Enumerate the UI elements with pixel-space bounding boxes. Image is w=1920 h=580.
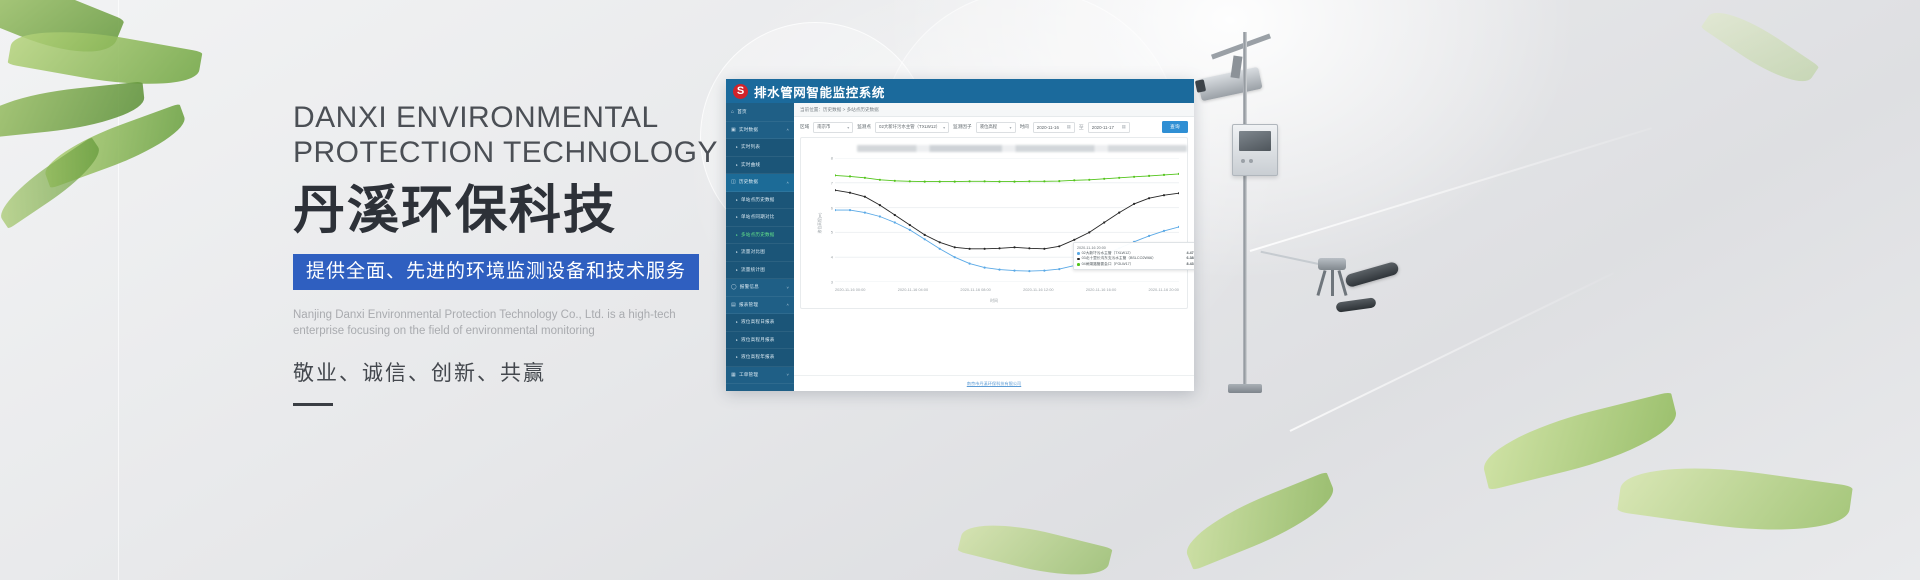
data-point: [1073, 179, 1075, 181]
sidebar-item-15[interactable]: ▦工单管理˅: [726, 367, 794, 385]
app-title: 排水管网智能监控系统: [754, 82, 885, 101]
app-screenshot: S 排水管网智能监控系统 ⌂首页▣实时数据˄▸实时列表▸实时曲线◫历史数据˄▸单…: [726, 79, 1194, 391]
divider: [293, 403, 333, 406]
bell-icon: ◯: [731, 284, 737, 290]
data-point: [984, 180, 986, 182]
sensor-tripod: [1318, 266, 1346, 296]
select-factor[interactable]: 液位高程▾: [976, 122, 1016, 133]
english-heading-line2: PROTECTION TECHNOLOGY: [293, 135, 713, 170]
data-point: [1103, 221, 1105, 223]
data-point: [1043, 270, 1045, 272]
data-point: [924, 238, 926, 240]
data-point: [1058, 245, 1060, 247]
data-point: [894, 214, 896, 216]
sidebar-item-5[interactable]: ▸单站点历史数据: [726, 192, 794, 210]
sidebar-item-7[interactable]: ▸多站点历史数据: [726, 227, 794, 245]
sidebar-item-label: 液位高程日报表: [741, 319, 775, 325]
data-point: [954, 256, 956, 258]
data-point: [984, 248, 986, 250]
data-point: [849, 209, 851, 211]
data-point: [1013, 181, 1015, 183]
chevron-right-icon: ▸: [736, 355, 738, 359]
x-axis-ticks: 2020-11-16 00:002020-11-16 04:002020-11-…: [835, 287, 1179, 295]
data-point: [1178, 226, 1179, 228]
calendar-icon[interactable]: ▦: [1122, 124, 1126, 130]
data-point: [1163, 194, 1165, 196]
sidebar-item-label: 单站点历史数据: [741, 197, 775, 203]
chevron-down-icon[interactable]: ▾: [1010, 125, 1012, 130]
data-point: [969, 263, 971, 265]
monitoring-pole: [1243, 32, 1247, 388]
chart-tooltip: 2020-11-16 20:00 02大新圩污水主管（TXLW12）4.47m0…: [1073, 242, 1194, 270]
filter-value: 液位高程: [980, 124, 998, 130]
main-content: 当前位置：历史数据 > 多站点历史数据 区域南京市▾监测点02大新圩污水主管（T…: [794, 103, 1194, 391]
y-tick-label: 4: [831, 255, 833, 260]
sidebar-item-9[interactable]: ▸流量统计图: [726, 262, 794, 280]
legend-dot-icon: [1077, 252, 1080, 255]
chevron-down-icon: ˅: [786, 285, 789, 290]
data-point: [1058, 268, 1060, 270]
chevron-down-icon[interactable]: ▾: [847, 125, 849, 130]
data-point: [1088, 231, 1090, 233]
filter-label-region: 区域: [800, 124, 809, 130]
data-point: [984, 267, 986, 269]
sidebar-item-11[interactable]: ▤报表管理˄: [726, 297, 794, 315]
data-point: [849, 175, 851, 177]
english-heading-line1: DANXI ENVIRONMENTAL: [293, 100, 713, 135]
data-point: [1163, 174, 1165, 176]
y-tick-label: 7: [831, 180, 833, 185]
filter-label-station: 监测点: [857, 124, 871, 130]
sidebar-item-label: 单站点同期对比: [741, 214, 775, 220]
data-point: [1043, 248, 1045, 250]
filter-label-time_start: 时间: [1020, 124, 1029, 130]
data-point: [1088, 179, 1090, 181]
data-point: [879, 204, 881, 206]
shield-logo-icon: S: [733, 84, 748, 99]
x-tick-label: 2020-11-16 04:00: [898, 287, 928, 295]
monitor-icon: ▣: [731, 127, 736, 133]
data-point: [1073, 239, 1075, 241]
data-point: [864, 177, 866, 179]
cabinet-indicator-icon: [1241, 159, 1245, 163]
app-footer: 南京市丹溪环保科技有限公司: [794, 375, 1194, 391]
filter-value: 2020-11-17: [1092, 125, 1114, 130]
x-tick-label: 2020-11-16 12:00: [1023, 287, 1053, 295]
data-point: [1133, 176, 1135, 178]
data-point: [1043, 180, 1045, 182]
tooltip-series-value: 8.43m: [1187, 262, 1194, 267]
sidebar-item-label: 报警信息: [740, 284, 759, 290]
data-point: [909, 224, 911, 226]
page-title: 丹溪环保科技: [293, 182, 713, 240]
data-point: [969, 248, 971, 250]
filter-value: 南京市: [817, 124, 830, 130]
chevron-right-icon: ▸: [736, 320, 738, 324]
chevron-down-icon: ˅: [786, 372, 789, 377]
data-point: [1118, 212, 1120, 214]
select-station[interactable]: 02大新圩污水主管（TXLW12）▾: [875, 122, 949, 133]
data-point: [939, 248, 941, 250]
tooltip-series-label: 04闸湖路管委会口（FGLW17）: [1082, 262, 1134, 267]
sidebar-item-6[interactable]: ▸单站点同期对比: [726, 209, 794, 227]
data-point: [998, 269, 1000, 271]
x-axis-title: 时间: [801, 298, 1187, 304]
data-point: [939, 241, 941, 243]
pole-base: [1228, 384, 1262, 393]
data-point: [894, 180, 896, 182]
company-description: Nanjing Danxi Environmental Protection T…: [293, 307, 683, 339]
sidebar[interactable]: ⌂首页▣实时数据˄▸实时列表▸实时曲线◫历史数据˄▸单站点历史数据▸单站点同期对…: [726, 103, 794, 391]
legend-dot-icon: [1077, 263, 1080, 266]
sidebar-item-label: 工单管理: [739, 372, 758, 378]
chart-legend: [857, 145, 1187, 152]
logo-letter: S: [737, 86, 744, 97]
filter-bar[interactable]: 区域南京市▾监测点02大新圩污水主管（TXLW12）▾监测因子液位高程▾时间20…: [794, 117, 1194, 137]
sidebar-item-label: 实时曲线: [741, 162, 760, 168]
breadcrumb: 当前位置：历史数据 > 多站点历史数据: [794, 103, 1194, 117]
chevron-down-icon[interactable]: ▾: [943, 125, 945, 130]
data-point: [1148, 235, 1150, 237]
data-point: [954, 246, 956, 248]
sidebar-item-label: 实时列表: [741, 144, 760, 150]
data-point: [894, 221, 896, 223]
data-point: [909, 229, 911, 231]
select-region[interactable]: 南京市▾: [813, 122, 853, 133]
data-point: [998, 247, 1000, 249]
y-tick-label: 5: [831, 230, 833, 235]
cabinet-screen: [1239, 131, 1271, 151]
data-point: [864, 212, 866, 214]
sidebar-item-3[interactable]: ▸实时曲线: [726, 157, 794, 175]
sidebar-item-2[interactable]: ▸实时列表: [726, 139, 794, 157]
date-range-separator: 至: [1079, 124, 1084, 131]
cabinet-indicator-icon: [1249, 159, 1253, 163]
sidebar-item-label: 报表管理: [739, 302, 758, 308]
data-point: [924, 181, 926, 183]
report-icon: ▤: [731, 302, 736, 308]
data-point: [849, 192, 851, 194]
sidebar-item-label: 首页: [737, 109, 747, 115]
sidebar-item-14[interactable]: ▸液位高程年报表: [726, 349, 794, 367]
home-icon: ⌂: [731, 109, 734, 115]
data-point: [954, 181, 956, 183]
x-tick-label: 2020-11-16 20:00: [1149, 287, 1179, 295]
hero-copy: DANXI ENVIRONMENTAL PROTECTION TECHNOLOG…: [293, 100, 713, 406]
query-button[interactable]: 查询: [1162, 121, 1188, 133]
data-point: [1103, 178, 1105, 180]
app-titlebar: S 排水管网智能监控系统: [726, 79, 1194, 103]
data-point: [1028, 247, 1030, 249]
ticket-icon: ▦: [731, 372, 736, 378]
company-footer-link[interactable]: 南京市丹溪环保科技有限公司: [967, 381, 1021, 387]
data-point: [835, 189, 836, 191]
chevron-up-icon: ˄: [786, 302, 789, 307]
data-point: [835, 174, 836, 176]
data-point: [969, 180, 971, 182]
y-tick-label: 3: [831, 280, 833, 285]
chevron-right-icon: ▸: [736, 163, 738, 167]
sidebar-item-label: 液位高程年报表: [741, 354, 775, 360]
filter-value: 2020-11-16: [1037, 125, 1059, 130]
chart-icon: ◫: [731, 179, 736, 185]
chevron-right-icon: ▸: [736, 215, 738, 219]
chevron-up-icon: ˄: [786, 127, 789, 132]
data-point: [1148, 175, 1150, 177]
chevron-up-icon: ˄: [786, 180, 789, 185]
sidebar-item-4[interactable]: ◫历史数据˄: [726, 174, 794, 192]
tooltip-timestamp: 2020-11-16 20:00: [1077, 246, 1194, 250]
sidebar-item-1[interactable]: ▣实时数据˄: [726, 122, 794, 140]
data-point: [864, 196, 866, 198]
x-tick-label: 2020-11-16 00:00: [835, 287, 865, 295]
sidebar-item-13[interactable]: ▸液位高程月报表: [726, 332, 794, 350]
data-point: [1013, 246, 1015, 248]
data-point: [1178, 173, 1179, 175]
tagline-badge: 提供全面、先进的环境监测设备和技术服务: [293, 254, 699, 290]
y-tick-label: 8: [831, 156, 833, 161]
data-point: [1028, 270, 1030, 272]
data-point: [879, 215, 881, 217]
series-line: [835, 174, 1179, 182]
data-point: [939, 181, 941, 183]
data-point: [1058, 180, 1060, 182]
y-tick-label: 6: [831, 205, 833, 210]
chart-card: 液位高程(m) 876543 2020-11-16 00:002020-11-1…: [800, 137, 1188, 309]
chevron-right-icon: ▸: [736, 233, 738, 237]
sidebar-item-label: 流量对比图: [741, 249, 765, 255]
data-point: [1148, 197, 1150, 199]
data-point: [924, 234, 926, 236]
sidebar-item-8[interactable]: ▸流量对比图: [726, 244, 794, 262]
chevron-right-icon: ▸: [736, 198, 738, 202]
x-tick-label: 2020-11-16 16:00: [1086, 287, 1116, 295]
sidebar-item-label: 液位高程月报表: [741, 337, 775, 343]
sidebar-item-label: 实时数据: [739, 127, 758, 133]
data-point: [879, 179, 881, 181]
y-axis-ticks: 876543: [821, 158, 833, 282]
tooltip-row: 04闸湖路管委会口（FGLW17）8.43m: [1077, 262, 1194, 267]
chevron-right-icon: ▸: [736, 145, 738, 149]
date-input-time_end[interactable]: 2020-11-17▦: [1088, 122, 1130, 133]
sidebar-item-label: 流量统计图: [741, 267, 765, 273]
filter-label-factor: 监测因子: [953, 124, 971, 130]
filter-value: 02大新圩污水主管（TXLW12）: [879, 124, 940, 130]
chevron-right-icon: ▸: [736, 268, 738, 272]
data-point: [835, 209, 836, 211]
chevron-right-icon: ▸: [736, 338, 738, 342]
data-point: [1013, 270, 1015, 272]
data-point: [998, 181, 1000, 183]
sidebar-item-label: 多站点历史数据: [741, 232, 775, 238]
sidebar-item-10[interactable]: ◯报警信息˅: [726, 279, 794, 297]
chevron-right-icon: ▸: [736, 250, 738, 254]
x-tick-label: 2020-11-16 08:00: [960, 287, 990, 295]
data-point: [909, 180, 911, 182]
sidebar-item-12[interactable]: ▸液位高程日报表: [726, 314, 794, 332]
company-slogan: 敬业、诚信、创新、共赢: [293, 357, 713, 387]
date-input-time_start[interactable]: 2020-11-16▦: [1033, 122, 1075, 133]
legend-dot-icon: [1077, 258, 1080, 261]
data-point: [1133, 203, 1135, 205]
sidebar-item-0[interactable]: ⌂首页: [726, 104, 794, 122]
sidebar-item-label: 历史数据: [739, 179, 758, 185]
data-point: [1028, 180, 1030, 182]
data-point: [1178, 192, 1179, 194]
data-point: [1163, 230, 1165, 232]
data-point: [1118, 177, 1120, 179]
calendar-icon[interactable]: ▦: [1067, 124, 1071, 130]
